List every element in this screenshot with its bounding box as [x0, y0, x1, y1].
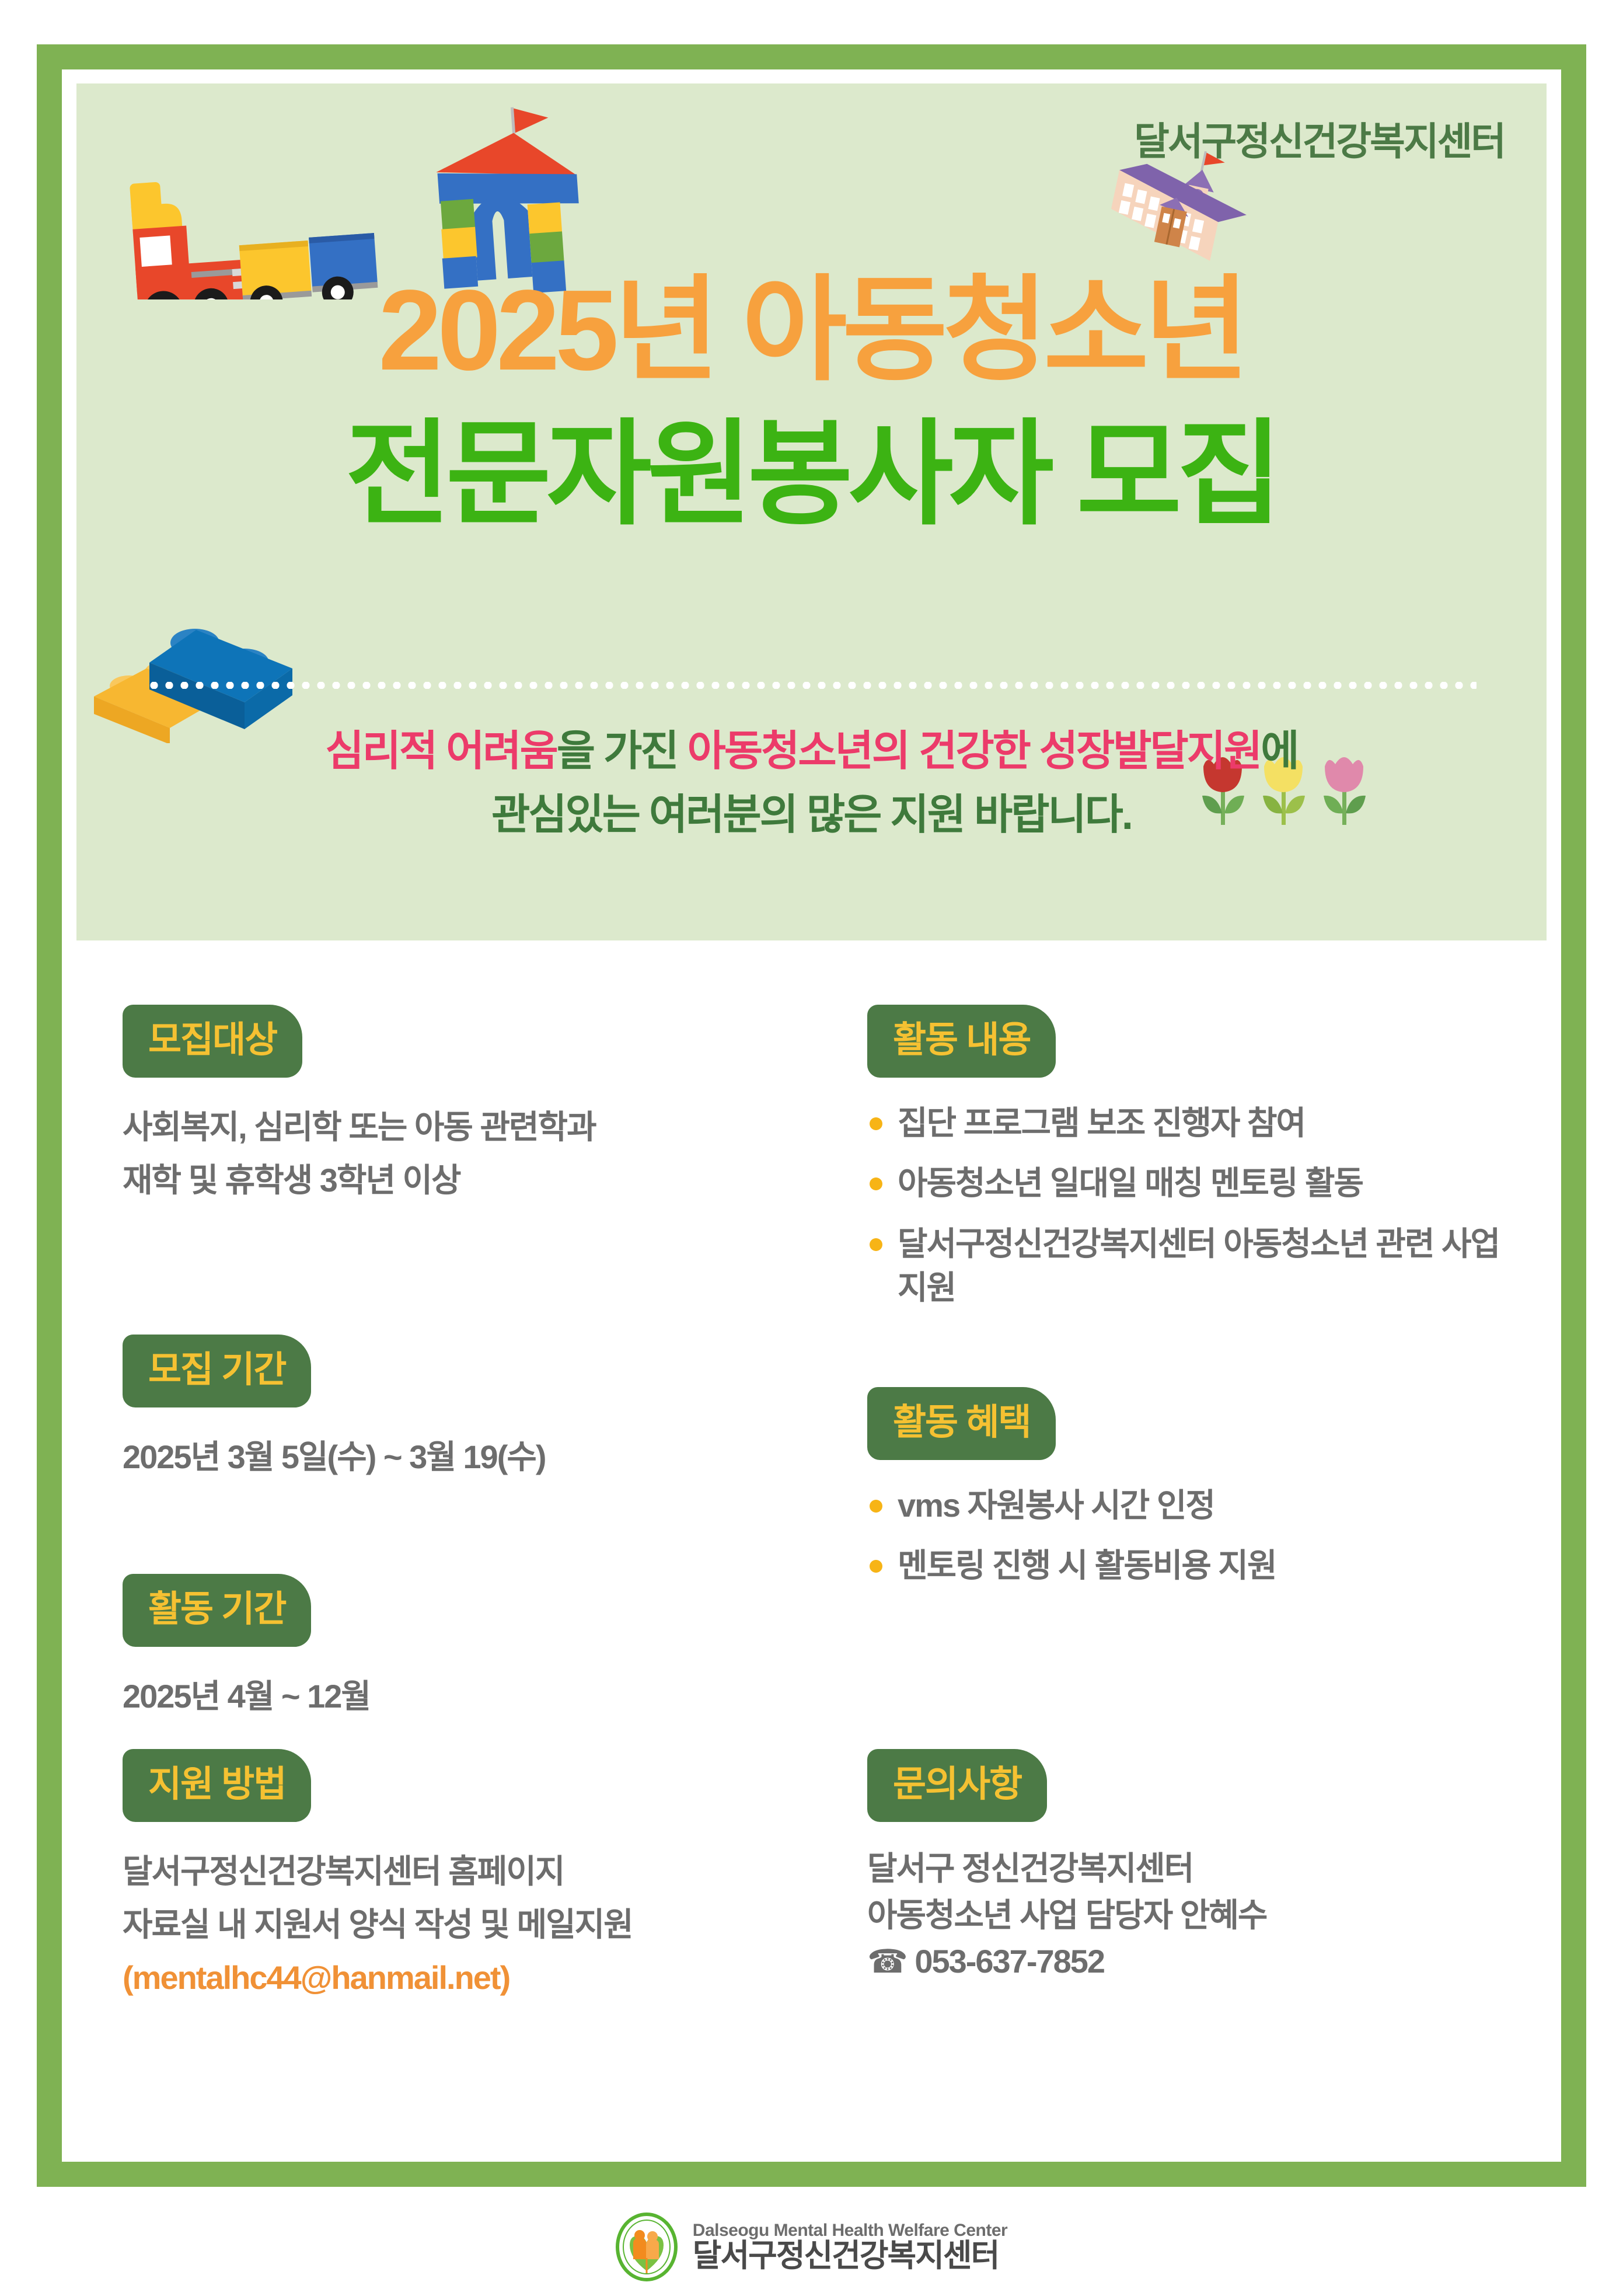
poster-root: 달서구정신건강복지센터 [0, 0, 1623, 2296]
badge-inquiry: 문의사항 [867, 1749, 1047, 1822]
footer-logo: Dalseogu Mental Health Welfare Center 달서… [0, 2213, 1623, 2281]
center-emblem-icon [616, 2213, 678, 2281]
section-recruit-period: 모집 기간 2025년 3월 5일(수) ~ 3월 19(수) [123, 1335, 546, 1484]
list-item: vms 자원봉사 시간 인정 [867, 1483, 1276, 1527]
inquiry-line-2: 아동청소년 사업 담당자 안혜수 [867, 1892, 1266, 1939]
recruit-target-body: 사회복지, 심리학 또는 아동 관련학과 재학 및 휴학생 3학년 이상 [123, 1101, 596, 1207]
activity-period-body: 2025년 4월 ~ 12월 [123, 1670, 370, 1723]
apply-method-line-2: 자료실 내 지원서 양식 작성 및 메일지원 [123, 1898, 633, 1952]
hero-panel: 달서구정신건강복지센터 [76, 83, 1547, 940]
activity-period-line-1: 2025년 4월 ~ 12월 [123, 1670, 370, 1723]
dotted-divider [146, 682, 1477, 689]
section-activity-content: 활동 내용 집단 프로그램 보조 진행자 참여 아동청소년 일대일 매칭 멘토링… [867, 1005, 1516, 1326]
badge-recruit-target: 모집대상 [123, 1005, 302, 1078]
recruit-period-body: 2025년 3월 5일(수) ~ 3월 19(수) [123, 1431, 546, 1484]
title-line-1: 2025년 아동청소년 [76, 259, 1547, 403]
section-inquiry: 문의사항 달서구 정신건강복지센터 아동청소년 사업 담당자 안혜수 ☎ 053… [867, 1749, 1266, 1985]
lead-plain-2: 에 [1261, 728, 1297, 775]
section-recruit-target: 모집대상 사회복지, 심리학 또는 아동 관련학과 재학 및 휴학생 3학년 이… [123, 1005, 596, 1207]
list-item: 달서구정신건강복지센터 아동청소년 관련 사업 지원 [867, 1222, 1516, 1309]
apply-method-email[interactable]: (mentalhc44@hanmail.net) [123, 1952, 633, 2005]
footer-english-name: Dalseogu Mental Health Welfare Center [693, 2221, 1007, 2240]
badge-apply-method: 지원 방법 [123, 1749, 311, 1822]
content-area: 모집대상 사회복지, 심리학 또는 아동 관련학과 재학 및 휴학생 3학년 이… [76, 940, 1547, 2187]
list-item: 아동청소년 일대일 매칭 멘토링 활동 [867, 1161, 1516, 1205]
list-item: 집단 프로그램 보조 진행자 참여 [867, 1101, 1516, 1145]
apply-method-body: 달서구정신건강복지센터 홈페이지 자료실 내 지원서 양식 작성 및 메일지원 … [123, 1845, 633, 2004]
recruit-target-line-2: 재학 및 휴학생 3학년 이상 [123, 1154, 596, 1207]
lead-accent-2: 아동청소년의 건강한 성장발달지원 [687, 728, 1261, 775]
badge-recruit-period: 모집 기간 [123, 1335, 311, 1407]
badge-activity-benefit: 활동 혜택 [867, 1387, 1056, 1460]
apply-method-line-1: 달서구정신건강복지센터 홈페이지 [123, 1845, 633, 1898]
lead-line-1: 심리적 어려움을 가진 아동청소년의 건강한 성장발달지원에 [76, 720, 1547, 783]
inquiry-body: 달서구 정신건강복지센터 아동청소년 사업 담당자 안혜수 ☎ 053-637-… [867, 1845, 1266, 1985]
lead-accent-1: 심리적 어려움 [325, 728, 556, 775]
poster-title: 2025년 아동청소년 전문자원봉사자 모집 [76, 259, 1547, 547]
recruit-target-line-1: 사회복지, 심리학 또는 아동 관련학과 [123, 1101, 596, 1154]
activity-benefit-list: vms 자원봉사 시간 인정 멘토링 진행 시 활동비용 지원 [867, 1483, 1276, 1587]
badge-activity-content: 활동 내용 [867, 1005, 1056, 1078]
title-line-2: 전문자원봉사자 모집 [76, 403, 1547, 547]
activity-content-list: 집단 프로그램 보조 진행자 참여 아동청소년 일대일 매칭 멘토링 활동 달서… [867, 1101, 1516, 1309]
lead-line-2: 관심있는 여러분의 많은 지원 바랍니다. [76, 783, 1547, 847]
lead-plain-1: 을 가진 [557, 728, 687, 775]
section-apply-method: 지원 방법 달서구정신건강복지센터 홈페이지 자료실 내 지원서 양식 작성 및… [123, 1749, 633, 2005]
footer-korean-name: 달서구정신건강복지센터 [693, 2239, 1007, 2273]
recruit-period-line-1: 2025년 3월 5일(수) ~ 3월 19(수) [123, 1431, 546, 1484]
section-activity-period: 활동 기간 2025년 4월 ~ 12월 [123, 1574, 370, 1723]
inquiry-line-1: 달서구 정신건강복지센터 [867, 1845, 1266, 1892]
section-activity-benefit: 활동 혜택 vms 자원봉사 시간 인정 멘토링 진행 시 활동비용 지원 [867, 1387, 1276, 1604]
badge-activity-period: 활동 기간 [123, 1574, 311, 1647]
footer-text-block: Dalseogu Mental Health Welfare Center 달서… [693, 2221, 1007, 2273]
list-item: 멘토링 진행 시 활동비용 지원 [867, 1544, 1276, 1587]
inquiry-phone[interactable]: ☎ 053-637-7852 [867, 1938, 1266, 1985]
lead-paragraph: 심리적 어려움을 가진 아동청소년의 건강한 성장발달지원에 관심있는 여러분의… [76, 720, 1547, 848]
